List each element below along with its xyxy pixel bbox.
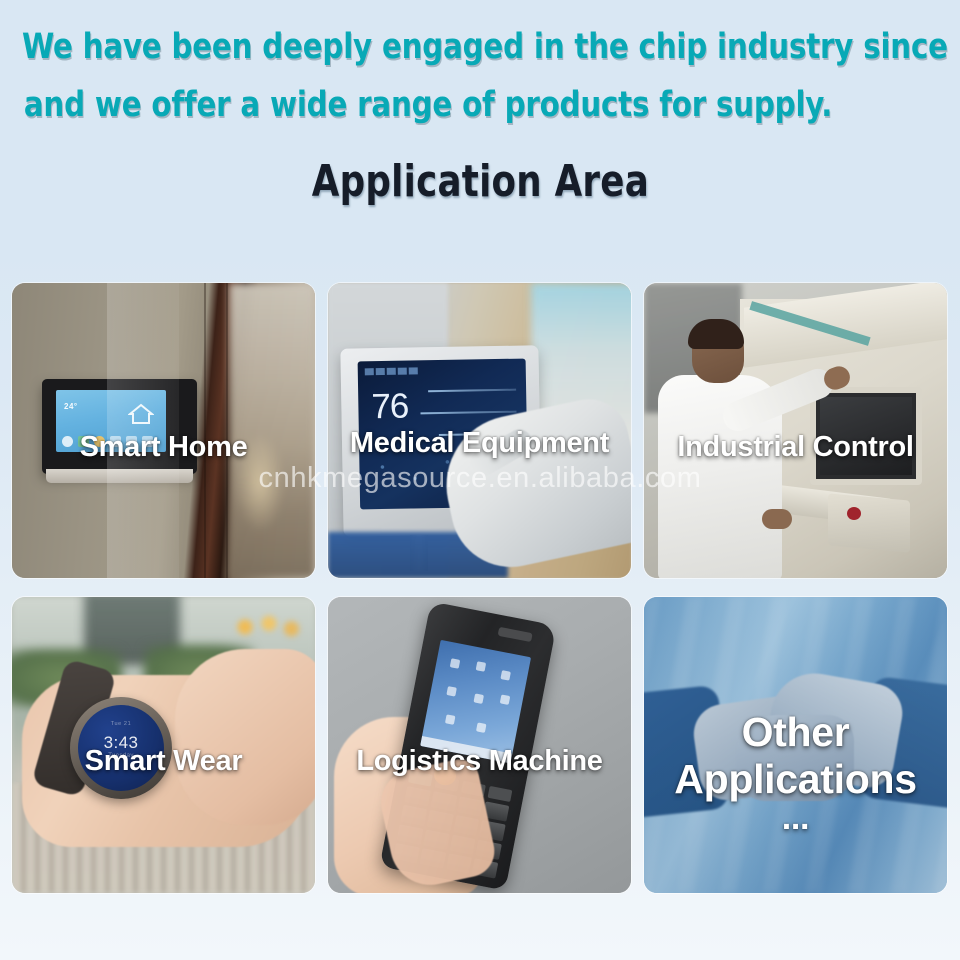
topbar-tab-5 xyxy=(409,367,418,374)
topbar-tab-2 xyxy=(376,368,385,375)
control-panel xyxy=(828,493,910,552)
cell-label-medical-equipment: Medical Equipment xyxy=(328,426,631,460)
grid-cell-other-applications[interactable]: Other Applications ... xyxy=(644,597,947,893)
watch-date: Tue 21 xyxy=(78,721,164,727)
waveform-1 xyxy=(428,389,516,393)
headline-line-1: We have been deeply engaged in the chip … xyxy=(22,18,887,76)
cell-label-smart-wear: Smart Wear xyxy=(12,744,315,778)
page-title: Application Area xyxy=(0,155,960,209)
grid-cell-medical-equipment[interactable]: 76 Medical Equipment xyxy=(328,283,631,578)
headline: We have been deeply engaged in the chip … xyxy=(22,18,887,134)
grid-cell-smart-wear[interactable]: Tue 21 3:43 Tuesday Smart Wear xyxy=(12,597,315,893)
background-lights xyxy=(229,609,309,645)
weather-readout: 24° xyxy=(64,402,78,411)
cell-label-other-applications: Other Applications ... xyxy=(644,709,947,833)
grid-cell-smart-home[interactable]: 24° xyxy=(12,283,315,578)
monitor-topbar xyxy=(365,367,418,375)
device-speaker xyxy=(498,627,533,642)
grid-cell-logistics-machine[interactable]: Logistics Machine xyxy=(328,597,631,893)
cell-label-other-line-1: Other xyxy=(742,709,850,755)
application-grid: 24° xyxy=(12,283,948,893)
cell-label-smart-home: Smart Home xyxy=(12,430,315,464)
technician-hair xyxy=(688,319,744,349)
screen-icon-7 xyxy=(445,714,456,725)
vital-reading: 76 xyxy=(371,389,409,425)
topbar-tab-1 xyxy=(365,368,374,375)
page-title-text: Application Area xyxy=(311,155,648,209)
topbar-tab-4 xyxy=(398,368,407,375)
waveform-2 xyxy=(420,411,516,415)
cell-label-industrial-control: Industrial Control xyxy=(644,430,947,464)
cell-label-other-line-2: Applications xyxy=(674,756,916,802)
page-header: We have been deeply engaged in the chip … xyxy=(0,0,960,260)
screen-icon-3 xyxy=(500,670,511,681)
application-area-page: We have been deeply engaged in the chip … xyxy=(0,0,960,960)
emergency-stop-button xyxy=(847,507,861,520)
hand xyxy=(175,649,315,825)
technician-hand-on-keyboard xyxy=(762,509,792,529)
screen-icon-2 xyxy=(476,661,487,672)
screen-icon-1 xyxy=(450,658,461,669)
grid-cell-industrial-control[interactable]: Industrial Control xyxy=(644,283,947,578)
topbar-tab-3 xyxy=(387,368,396,375)
soft-key-4 xyxy=(487,786,512,802)
screen-icon-6 xyxy=(500,694,511,705)
cell-label-logistics-machine: Logistics Machine xyxy=(328,744,631,778)
screen-icon-5 xyxy=(473,693,484,704)
screen-icon-4 xyxy=(446,686,457,697)
screen-icon-8 xyxy=(476,722,487,733)
cell-label-other-line-3: ... xyxy=(644,803,947,833)
headline-line-2: and we offer a wide range of products fo… xyxy=(24,76,887,134)
